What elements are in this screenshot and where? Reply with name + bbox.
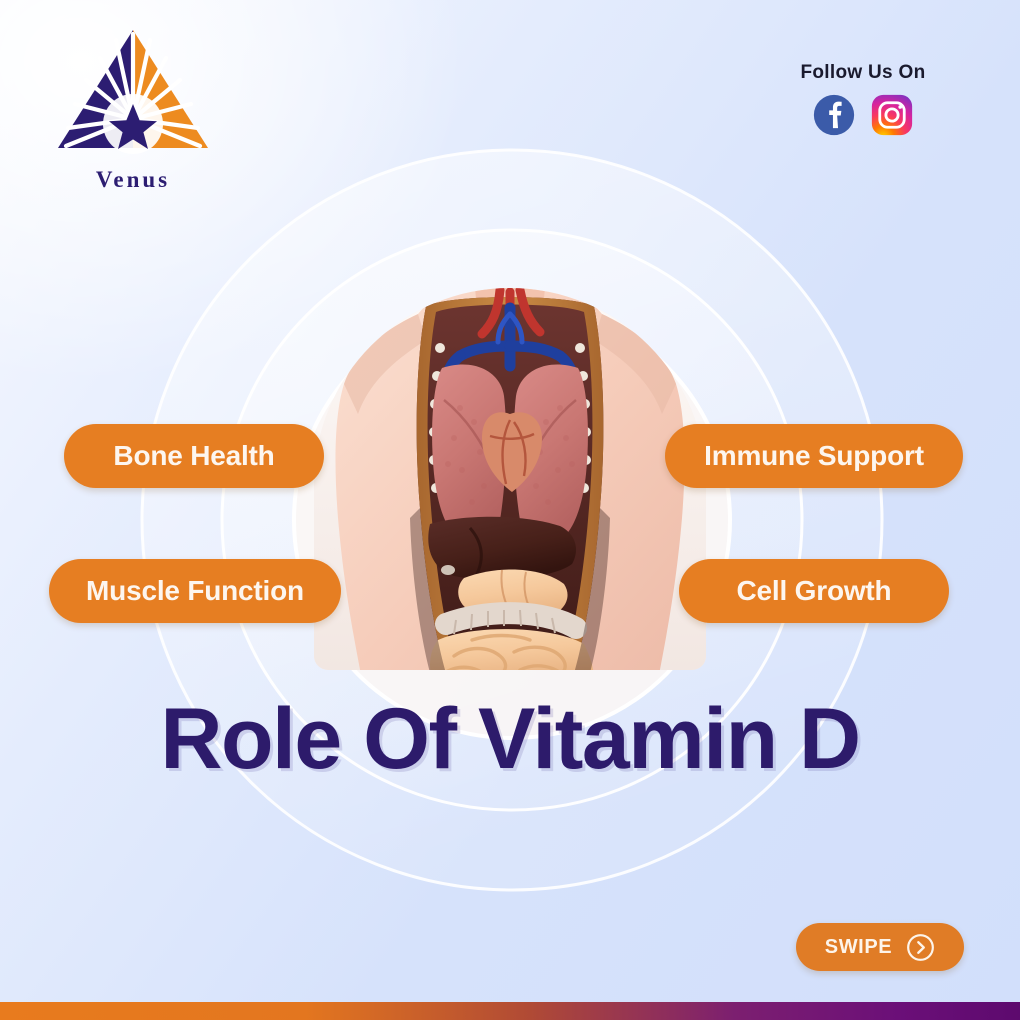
follow-us-block: Follow Us On — [758, 62, 968, 136]
benefit-pill-cell-growth[interactable]: Cell Growth — [679, 559, 949, 623]
benefit-label: Muscle Function — [86, 575, 304, 607]
benefit-pill-immune-support[interactable]: Immune Support — [665, 424, 963, 488]
follow-us-label: Follow Us On — [758, 62, 968, 84]
facebook-icon[interactable] — [813, 94, 855, 136]
page-title: Role Of Vitamin D — [0, 690, 1020, 789]
swipe-button[interactable]: SWIPE — [796, 923, 964, 971]
benefit-pill-muscle-function[interactable]: Muscle Function — [49, 559, 341, 623]
instagram-icon[interactable] — [871, 94, 913, 136]
brand-logo[interactable]: Venus — [48, 24, 218, 199]
chevron-right-circle-icon — [906, 933, 935, 962]
benefit-label: Cell Growth — [737, 575, 892, 607]
poster-canvas: Venus Follow Us On — [0, 0, 1020, 1020]
human-torso-anatomy-model-image — [314, 288, 706, 670]
swipe-button-label: SWIPE — [825, 936, 892, 959]
bottom-accent-bar — [0, 1002, 1020, 1020]
benefit-pill-bone-health[interactable]: Bone Health — [64, 424, 324, 488]
venus-triangle-starburst-logo-icon — [48, 24, 218, 174]
benefit-label: Immune Support — [704, 440, 924, 472]
brand-name-label: Venus — [48, 167, 218, 193]
social-icon-row — [758, 94, 968, 136]
benefit-label: Bone Health — [113, 440, 274, 472]
